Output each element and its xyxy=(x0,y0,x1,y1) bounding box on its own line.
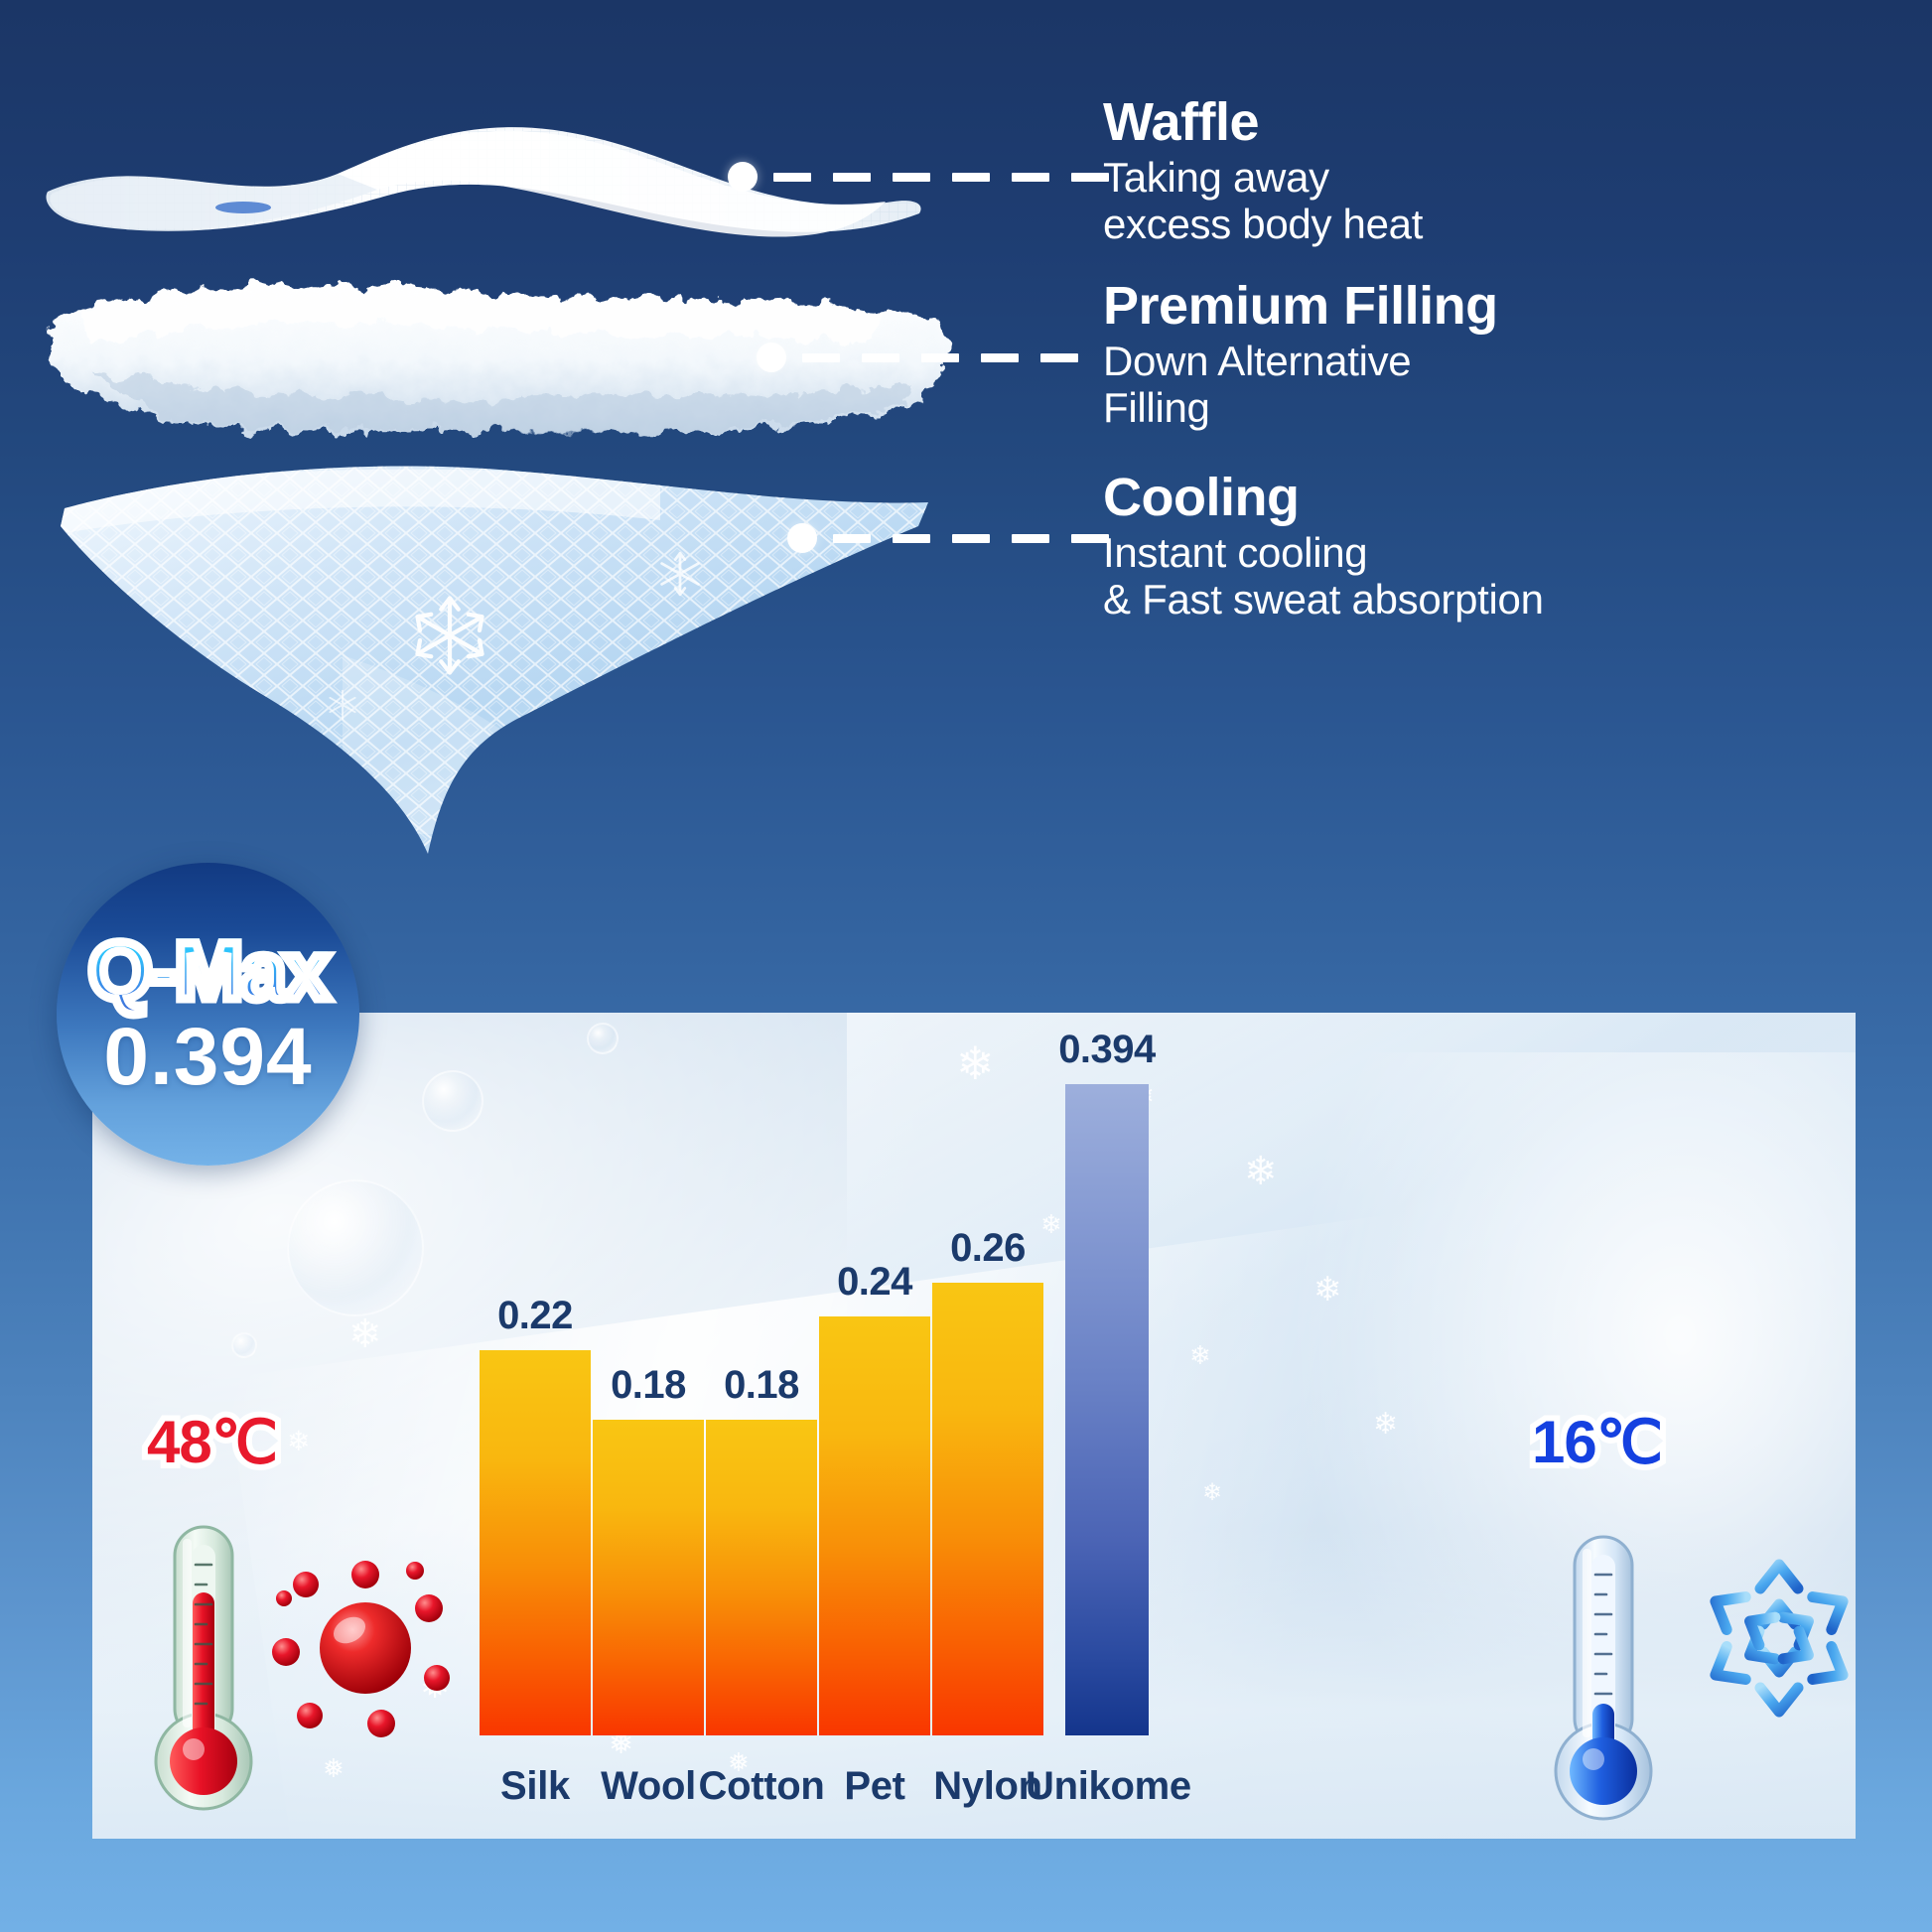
leader-dashes-cooling xyxy=(833,534,1131,543)
bar-rect-wool xyxy=(593,1420,704,1735)
leader-dashes-waffle xyxy=(773,173,1131,182)
layer-desc-premium-filling-line1: Down Alternative xyxy=(1103,338,1498,384)
thermometer-hot-icon xyxy=(149,1519,258,1817)
bar-value-unikome: 0.394 xyxy=(1047,1028,1167,1072)
leader-dashes-premium-filling xyxy=(802,353,1100,362)
thermometer-cold-icon xyxy=(1549,1529,1658,1827)
bar-value-wool: 0.18 xyxy=(589,1363,708,1408)
layer-title-premium-filling: Premium Filling xyxy=(1103,278,1498,334)
bar-label-unikome: Unikome xyxy=(1026,1764,1188,1809)
fabric-layers-section: Waffle Taking away excess body heat Prem… xyxy=(0,0,1932,894)
leader-line-premium-filling xyxy=(757,343,1100,372)
leader-dot-premium-filling xyxy=(757,343,786,372)
bar-rect-nylon xyxy=(932,1283,1043,1735)
layer-title-waffle: Waffle xyxy=(1103,94,1423,150)
bar-value-pet: 0.24 xyxy=(815,1260,934,1305)
bar-rect-cotton xyxy=(706,1420,817,1735)
qmax-badge-value: 0.394 xyxy=(103,1017,312,1098)
bar-rect-unikome xyxy=(1065,1084,1149,1735)
layer-desc-waffle-line2: excess body heat xyxy=(1103,201,1423,247)
cooling-fabric-layer xyxy=(45,457,958,894)
hot-temperature-label: 48℃ xyxy=(147,1408,277,1477)
snowflake-icon xyxy=(1690,1549,1868,1727)
bar-value-cotton: 0.18 xyxy=(702,1363,821,1408)
layer-caption-cooling: Cooling Instant cooling & Fast sweat abs… xyxy=(1103,470,1544,622)
bar-rect-pet xyxy=(819,1316,930,1735)
qmax-badge-title: Q-Max xyxy=(88,931,328,1013)
layer-desc-premium-filling-line2: Filling xyxy=(1103,384,1498,431)
layer-caption-premium-filling: Premium Filling Down Alternative Filling xyxy=(1103,278,1498,431)
layer-desc-cooling-line2: & Fast sweat absorption xyxy=(1103,576,1544,622)
layer-title-cooling: Cooling xyxy=(1103,470,1544,525)
layer-caption-waffle: Waffle Taking away excess body heat xyxy=(1103,94,1423,247)
layer-desc-waffle-line1: Taking away xyxy=(1103,154,1423,201)
bar-rect-silk xyxy=(480,1350,591,1735)
leader-dot-waffle xyxy=(728,162,758,192)
qmax-badge: Q-Max 0.394 xyxy=(57,863,359,1166)
cold-temperature-label: 16℃ xyxy=(1532,1408,1662,1477)
leader-dot-cooling xyxy=(787,523,817,553)
leader-line-waffle xyxy=(728,162,1131,192)
bar-value-silk: 0.22 xyxy=(476,1294,595,1338)
leader-line-cooling xyxy=(787,523,1131,553)
hot-molecule-icon xyxy=(266,1549,465,1747)
layer-desc-cooling-line1: Instant cooling xyxy=(1103,529,1544,576)
bar-value-nylon: 0.26 xyxy=(928,1226,1047,1271)
